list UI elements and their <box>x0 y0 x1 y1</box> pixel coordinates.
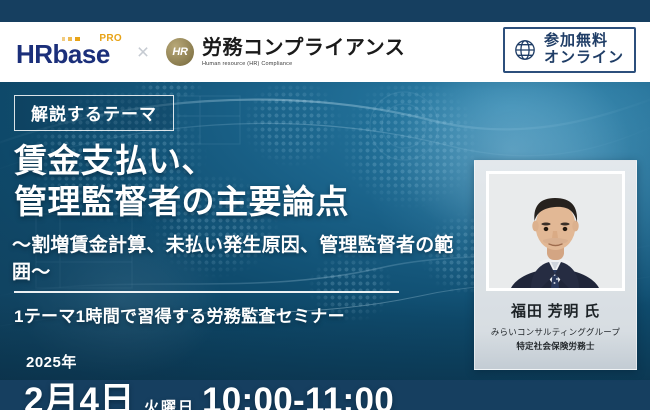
partner-logo: 労務コンプライアンス Human resource (HR) Complianc… <box>202 38 405 67</box>
seminar-banner: PRO HRbase × HR 労務コンプライアンス Human resourc… <box>0 0 650 410</box>
subtitle: 〜割増賃金計算、未払い発生原因、管理監督者の範囲〜 <box>12 230 470 284</box>
title-line-1: 賃金支払い、 <box>14 141 470 182</box>
hrbase-wordmark: HRbase <box>16 39 110 70</box>
hrbase-pro-logo: PRO HRbase <box>16 33 120 71</box>
speaker-name: 福田 芳明 氏 <box>511 300 600 321</box>
partner-name: 労務コンプライアンス <box>202 38 405 59</box>
schedule-datetime: 2月4日 火曜日 10:00-11:00 <box>24 372 470 410</box>
title-line-2: 管理監督者の主要論点 <box>14 182 470 223</box>
speaker-portrait-illustration <box>489 174 622 288</box>
badge-line-online: オンライン <box>544 50 624 67</box>
speaker-role: 特定社会保険労務士 <box>516 340 594 352</box>
schedule-day-of-week: 火曜日 <box>144 396 195 410</box>
speaker-photo-frame <box>486 171 625 291</box>
top-navy-band <box>0 0 650 22</box>
schedule-date: 2月4日 <box>24 372 135 410</box>
theme-label: 解説するテーマ <box>14 95 174 131</box>
speaker-card: 福田 芳明 氏 みらいコンサルティンググループ 特定社会保険労務士 <box>474 160 637 370</box>
speaker-photo <box>489 174 622 288</box>
badge-line-free: 参加無料 <box>544 33 624 50</box>
page-title: 賃金支払い、 管理監督者の主要論点 <box>14 141 470 223</box>
free-online-badge: 参加無料 オンライン <box>503 27 636 73</box>
schedule-year: 2025年 <box>26 351 470 372</box>
divider-rule <box>14 291 399 293</box>
partner-tagline: Human resource (HR) Compliance <box>202 61 405 67</box>
schedule-time: 10:00-11:00 <box>202 381 394 410</box>
globe-icon <box>513 38 537 62</box>
free-online-text: 参加無料 オンライン <box>544 33 624 67</box>
cross-symbol: × <box>120 42 166 63</box>
seminar-description: 1テーマ1時間で習得する労務監査セミナー <box>14 302 470 327</box>
main-content: 解説するテーマ 賃金支払い、 管理監督者の主要論点 〜割増賃金計算、未払い発生原… <box>0 82 470 410</box>
partner-hr-emblem: HR <box>166 38 194 66</box>
speaker-organization: みらいコンサルティンググループ <box>491 326 620 338</box>
